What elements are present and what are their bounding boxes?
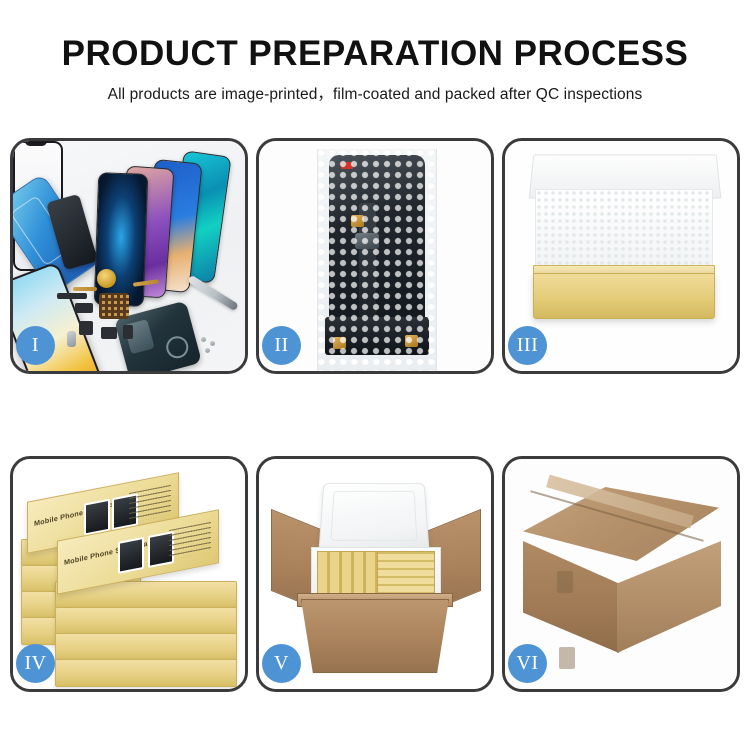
flex-cable-part — [73, 287, 97, 291]
inner-box-front — [533, 273, 715, 319]
screw-part — [201, 337, 206, 342]
foam-box-lid — [318, 483, 429, 552]
camera-module-part — [79, 321, 93, 335]
screw-part — [210, 341, 215, 346]
page-subtitle: All products are image-printed，film-coat… — [0, 82, 750, 104]
bubble-wrap-overlay — [317, 149, 435, 371]
retail-box — [55, 633, 237, 661]
carton-left-face — [523, 541, 619, 653]
speaker-part — [101, 327, 117, 339]
copper-coil-part — [97, 269, 116, 288]
screw-part — [205, 348, 210, 353]
process-steps-grid: I II — [10, 138, 740, 692]
step-panel-6: VI — [502, 456, 740, 692]
carton-front-panel — [301, 599, 449, 673]
product-preparation-process-infographic: PRODUCT PREPARATION PROCESS All products… — [0, 0, 750, 750]
step-panel-5: V — [256, 456, 494, 692]
box-label-spec-lines — [129, 485, 171, 523]
carton-handle-notch — [559, 647, 575, 669]
box-label-spec-lines — [169, 522, 211, 560]
step-badge-5: V — [262, 644, 301, 683]
ic-chip-grid-part — [99, 293, 129, 319]
carton-handle-notch — [557, 571, 573, 593]
step-badge-6: VI — [508, 644, 547, 683]
screwdriver-tool — [187, 275, 239, 311]
step-badge-1: I — [16, 326, 55, 365]
step-badge-4: IV — [16, 644, 55, 683]
connector-part — [75, 303, 93, 313]
step-panel-1: I — [10, 138, 248, 374]
header: PRODUCT PREPARATION PROCESS All products… — [0, 34, 750, 104]
step-panel-2: II — [256, 138, 494, 374]
sim-tray-part — [67, 331, 76, 347]
step-panel-3: III — [502, 138, 740, 374]
step-badge-2: II — [262, 326, 301, 365]
page-title: PRODUCT PREPARATION PROCESS — [0, 34, 750, 73]
foam-sheet — [535, 189, 713, 275]
retail-box — [55, 659, 237, 687]
step-panel-4: Mobile Phone Spare Parts Mobile Phone Sp… — [10, 456, 248, 692]
retail-box — [55, 607, 237, 635]
button-part — [123, 325, 133, 339]
step-badge-3: III — [508, 326, 547, 365]
box-label-phone-image — [118, 537, 144, 574]
retail-box-stack: Mobile Phone Spare Parts Mobile Phone Sp… — [21, 481, 239, 671]
antenna-strip-part — [57, 293, 87, 299]
